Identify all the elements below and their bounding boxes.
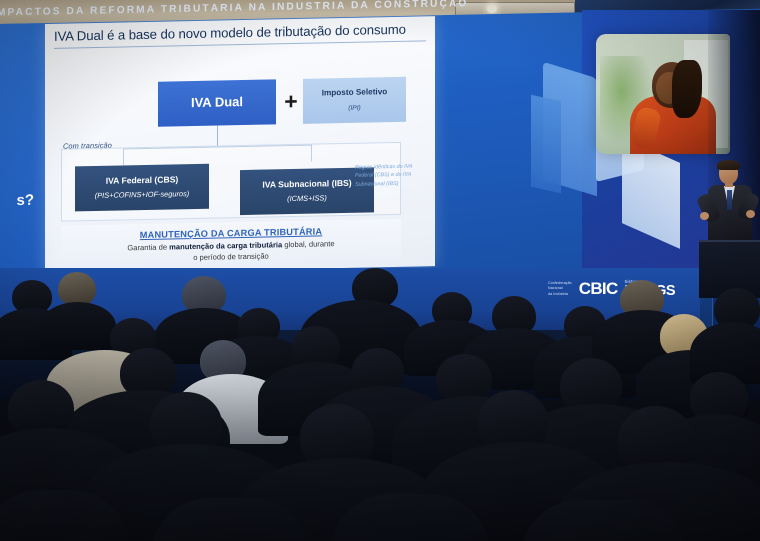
audience-head (58, 272, 96, 306)
speaker-tie (727, 190, 732, 210)
connector-stem (217, 126, 218, 147)
iva-federal-label: IVA Federal (CBS) (106, 175, 179, 186)
iva-federal-sublabel: (PIS+COFINS+IOF-seguros) (95, 190, 189, 201)
photo-person-hair (672, 60, 702, 118)
callout-title: MANUTENÇÃO DA CARGA TRIBUTÁRIA (140, 226, 322, 240)
adjacent-slide-fragment (0, 23, 45, 274)
speaker-hair (717, 160, 740, 170)
plus-operator: + (282, 92, 300, 110)
callout-line-2: o período de transição (193, 251, 269, 262)
audience-shoulders (40, 302, 116, 350)
diagram-box-imposto-seletivo: Imposto Seletivo (IPI) (303, 77, 406, 124)
iva-dual-label: IVA Dual (191, 95, 243, 111)
conference-photo: s? IVA Dual é a base do novo modelo de t… (0, 0, 760, 541)
adjacent-slide-text: s? (0, 192, 34, 210)
callout-line1-post: global, durante (282, 239, 334, 249)
speaker-left-hand (700, 212, 709, 220)
callout-line1-pre: Garantia de (127, 242, 169, 252)
diagram-box-iva-subnacional: IVA Subnacional (IBS) (ICMS+ISS) (240, 167, 374, 215)
diagram-box-iva-dual: IVA Dual (158, 79, 276, 126)
audience (0, 262, 760, 541)
speaker-right-hand (746, 210, 755, 218)
projected-slide: IVA Dual é a base do novo modelo de trib… (45, 16, 435, 274)
imposto-seletivo-label: Imposto Seletivo (322, 87, 388, 98)
decorative-ribbon (531, 95, 561, 193)
diagram-box-iva-federal: IVA Federal (CBS) (PIS+COFINS+IOF-seguro… (75, 164, 209, 212)
callout-line-1: Garantia de manutenção da carga tributár… (127, 239, 334, 252)
callout-line1-bold: manutenção da carga tributária (169, 240, 282, 251)
imposto-seletivo-sublabel: (IPI) (348, 104, 360, 112)
diagram-side-note: Regras idênticas do IVA Federal (CBS) e … (355, 162, 429, 189)
iva-subnacional-label: IVA Subnacional (IBS) (262, 178, 351, 190)
iva-subnacional-sublabel: (ICMS+ISS) (287, 194, 327, 204)
